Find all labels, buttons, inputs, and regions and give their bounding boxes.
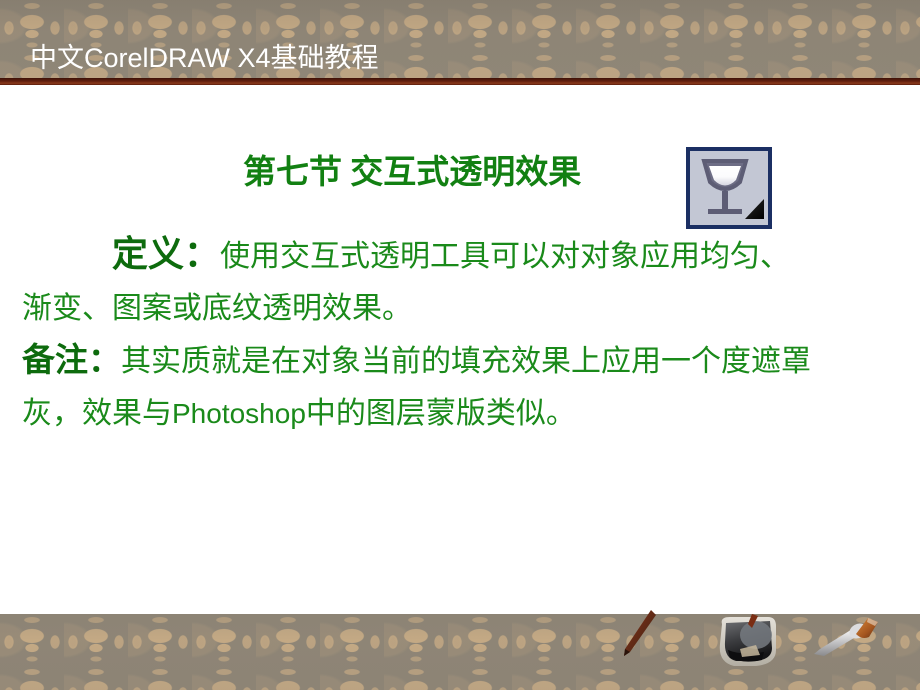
- inkstone-decoration: [712, 612, 784, 674]
- calligraphy-brush-decoration: [618, 606, 660, 660]
- definition-line-1: 定义：使用交互式透明工具可以对对象应用均匀、: [22, 228, 902, 283]
- definition-text-line1: 使用交互式透明工具可以对对象应用均匀、: [220, 240, 790, 273]
- content-body: 定义：使用交互式透明工具可以对对象应用均匀、 渐变、图案或底纹透明效果。 备注：…: [22, 228, 902, 440]
- note-text-after-latin: 中的图层蒙版类似。: [306, 397, 576, 430]
- definition-text-line2: 渐变、图案或底纹透明效果。: [22, 292, 412, 325]
- note-line-1: 备注：其实质就是在对象当前的填充效果上应用一个度遮罩: [22, 335, 902, 388]
- note-label: 备注：: [22, 343, 121, 379]
- slide: 中文CorelDRAW X4基础教程 第七节 交互式透明效果: [0, 0, 920, 690]
- definition-line-2: 渐变、图案或底纹透明效果。: [22, 283, 902, 335]
- note-line-2: 灰，效果与Photoshop中的图层蒙版类似。: [22, 388, 902, 440]
- header-divider-rule: [0, 78, 920, 85]
- course-title: 中文CorelDRAW X4基础教程: [30, 42, 379, 74]
- note-text-line1: 其实质就是在对象当前的填充效果上应用一个度遮罩: [121, 345, 811, 378]
- interactive-transparency-tool-icon[interactable]: [686, 147, 772, 229]
- wine-glass-icon: [690, 151, 768, 225]
- note-text-latin: Photoshop: [172, 398, 306, 429]
- definition-label: 定义：: [112, 234, 220, 274]
- painting-spatula-decoration: [812, 616, 882, 658]
- note-text-before-latin: 灰，效果与: [22, 397, 172, 430]
- page-title: 第七节 交互式透明效果: [243, 152, 581, 194]
